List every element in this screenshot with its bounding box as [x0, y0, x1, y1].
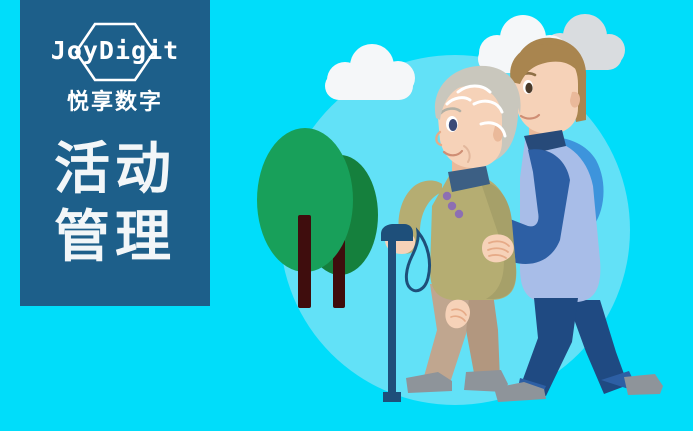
brand-chinese-name: 悦享数字: [67, 90, 163, 116]
man-eye-iris: [525, 83, 532, 93]
woman-eye-iris: [449, 119, 457, 131]
brand-panel: JoyDigit 悦享数字 活动 管理: [20, 0, 210, 306]
page-title-line1: 活动: [54, 136, 176, 204]
brand-lockup: JoyDigit: [38, 22, 193, 84]
page-title: 活动 管理: [54, 136, 176, 272]
brand-wordmark: JoyDigit: [38, 36, 193, 66]
cane-tip: [383, 392, 401, 402]
poster-canvas: JoyDigit 悦享数字 活动 管理: [0, 0, 693, 431]
woman-far-shoe: [464, 370, 508, 392]
page-title-line2: 管理: [54, 204, 176, 272]
